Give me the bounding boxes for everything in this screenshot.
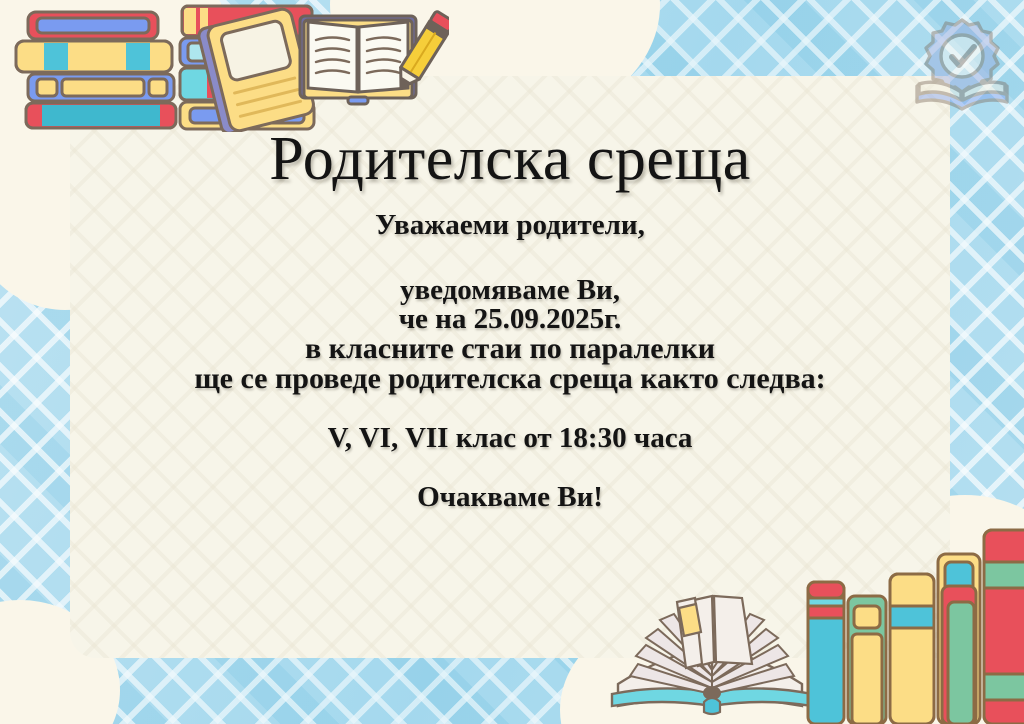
gear-check-book-logo [912, 14, 1012, 116]
line-spacer-3 [70, 453, 950, 483]
open-book-graphic [612, 596, 812, 714]
line-date: че на 25.09.2025г. [70, 305, 950, 334]
line-notice: уведомяваме Ви, [70, 276, 950, 305]
line-will-be-held: ще се проведе родителска среща както сле… [70, 364, 950, 394]
line-greeting: Уважаеми родители, [70, 211, 950, 240]
poster-canvas: Родителска среща Уважаеми родители, увед… [0, 0, 1024, 724]
line-spacer-2 [70, 394, 950, 424]
line-closing: Очакваме Ви! [70, 483, 950, 512]
line-classes-time: V, VI, VII клас от 18:30 часа [70, 424, 950, 453]
line-place: в класните стаи по паралелки [70, 334, 950, 364]
open-book-bookshelf-illustration [602, 516, 1024, 724]
line-spacer-1 [70, 240, 950, 276]
poster-body: Уважаеми родители, уведомяваме Ви, че на… [70, 191, 950, 512]
stacked-books-illustration [4, 4, 449, 132]
